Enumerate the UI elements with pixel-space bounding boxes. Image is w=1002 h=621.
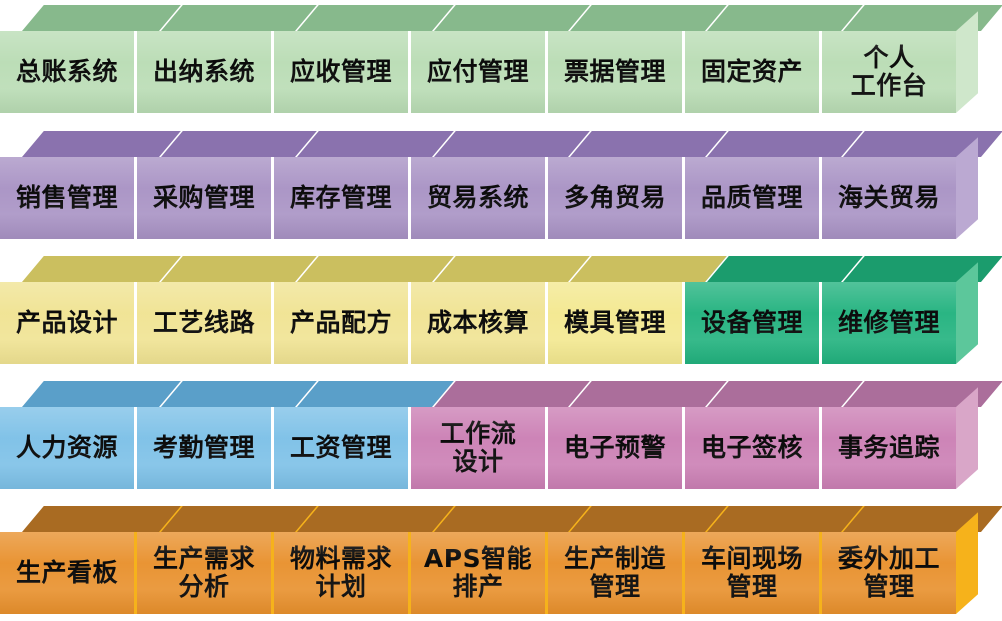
- module-row-hr-workflow: 人力资源考勤管理工资管理工作流 设计电子预警电子签核事务追踪: [0, 381, 1002, 489]
- cube-top-face: [22, 381, 181, 407]
- module-block[interactable]: 成本核算: [408, 282, 545, 364]
- module-block[interactable]: 库存管理: [271, 157, 408, 239]
- module-block[interactable]: 电子签核: [682, 407, 819, 489]
- module-label: APS智能 排产: [422, 545, 534, 601]
- module-block[interactable]: 固定资产: [682, 31, 819, 113]
- cube-top-face: [705, 5, 866, 31]
- module-block[interactable]: 产品设计: [0, 282, 134, 364]
- module-label: 工资管理: [288, 434, 394, 462]
- cube-top-face: [22, 131, 181, 157]
- row-front-face: 销售管理采购管理库存管理贸易系统多角贸易品质管理海关贸易: [0, 157, 956, 239]
- module-label: 设备管理: [699, 309, 805, 337]
- cube-top-face: [159, 381, 320, 407]
- module-block[interactable]: 票据管理: [545, 31, 682, 113]
- cube-top-face: [432, 506, 593, 532]
- module-block[interactable]: 生产制造 管理: [545, 532, 682, 614]
- module-block[interactable]: 模具管理: [545, 282, 682, 364]
- module-row-finance: 总账系统出纳系统应收管理应付管理票据管理固定资产个人 工作台: [0, 5, 1002, 113]
- cube-top-face: [22, 506, 181, 532]
- cube-top-face: [295, 131, 456, 157]
- module-block[interactable]: 贸易系统: [408, 157, 545, 239]
- module-block[interactable]: 物料需求 计划: [271, 532, 408, 614]
- row-top-face: [0, 5, 1002, 31]
- module-block[interactable]: 事务追踪: [819, 407, 956, 489]
- module-label: 贸易系统: [425, 184, 531, 212]
- row-front-face: 生产看板生产需求 分析物料需求 计划APS智能 排产生产制造 管理车间现场 管理…: [0, 532, 956, 614]
- cube-top-face: [705, 381, 866, 407]
- module-block[interactable]: 多角贸易: [545, 157, 682, 239]
- cube-top-face: [568, 381, 729, 407]
- module-label: 票据管理: [562, 58, 668, 86]
- row-top-face: [0, 131, 1002, 157]
- module-block[interactable]: 个人 工作台: [819, 31, 956, 113]
- cube-right-side-face: [956, 137, 978, 239]
- cube-top-face: [295, 5, 456, 31]
- module-label: 模具管理: [562, 309, 668, 337]
- cube-right-side-face: [956, 262, 978, 364]
- row-top-face: [0, 506, 1002, 532]
- cube-top-face: [568, 131, 729, 157]
- cube-top-face: [159, 506, 320, 532]
- row-front-face: 产品设计工艺线路产品配方成本核算模具管理设备管理维修管理: [0, 282, 956, 364]
- module-matrix-diagram: 总账系统出纳系统应收管理应付管理票据管理固定资产个人 工作台销售管理采购管理库存…: [0, 0, 1002, 621]
- module-block[interactable]: 采购管理: [134, 157, 271, 239]
- cube-top-face: [432, 131, 593, 157]
- row-front-face: 人力资源考勤管理工资管理工作流 设计电子预警电子签核事务追踪: [0, 407, 956, 489]
- module-label: 产品设计: [14, 309, 120, 337]
- cube-top-face: [432, 5, 593, 31]
- module-label: 车间现场 管理: [699, 545, 805, 601]
- cube-top-face: [22, 256, 181, 282]
- module-label: 生产看板: [14, 559, 120, 587]
- row-top-face: [0, 381, 1002, 407]
- module-block[interactable]: 委外加工 管理: [819, 532, 956, 614]
- module-label: 维修管理: [836, 309, 942, 337]
- module-label: 成本核算: [425, 309, 531, 337]
- module-block[interactable]: 工作流 设计: [408, 407, 545, 489]
- module-label: 电子预警: [562, 434, 668, 462]
- module-block[interactable]: 海关贸易: [819, 157, 956, 239]
- module-block[interactable]: 应收管理: [271, 31, 408, 113]
- cube-right-side-face: [956, 387, 978, 489]
- module-label: 多角贸易: [562, 184, 668, 212]
- module-label: 个人 工作台: [849, 44, 930, 100]
- cube-top-face: [22, 5, 181, 31]
- cube-top-face: [705, 131, 866, 157]
- module-label: 固定资产: [699, 58, 805, 86]
- cube-top-face: [159, 256, 320, 282]
- cube-top-face: [295, 506, 456, 532]
- module-label: 生产需求 分析: [151, 545, 257, 601]
- module-block[interactable]: 出纳系统: [134, 31, 271, 113]
- cube-top-face: [295, 256, 456, 282]
- cube-top-face: [295, 381, 456, 407]
- module-block[interactable]: 应付管理: [408, 31, 545, 113]
- module-block[interactable]: 电子预警: [545, 407, 682, 489]
- module-row-manufacturing: 生产看板生产需求 分析物料需求 计划APS智能 排产生产制造 管理车间现场 管理…: [0, 506, 1002, 614]
- module-label: 产品配方: [288, 309, 394, 337]
- module-label: 品质管理: [699, 184, 805, 212]
- module-label: 考勤管理: [151, 434, 257, 462]
- cube-top-face: [568, 256, 729, 282]
- module-label: 工艺线路: [151, 309, 257, 337]
- module-label: 总账系统: [14, 58, 120, 86]
- module-label: 电子签核: [699, 434, 805, 462]
- module-block[interactable]: 维修管理: [819, 282, 956, 364]
- module-row-supply-chain: 销售管理采购管理库存管理贸易系统多角贸易品质管理海关贸易: [0, 131, 1002, 239]
- module-label: 生产制造 管理: [562, 545, 668, 601]
- module-block[interactable]: 车间现场 管理: [682, 532, 819, 614]
- module-label: 采购管理: [151, 184, 257, 212]
- cube-top-face: [159, 131, 320, 157]
- cube-top-face: [432, 381, 593, 407]
- module-label: 海关贸易: [836, 184, 942, 212]
- cube-top-face: [159, 5, 320, 31]
- module-block[interactable]: 生产看板: [0, 532, 134, 614]
- cube-top-face: [568, 506, 729, 532]
- module-label: 人力资源: [14, 434, 120, 462]
- module-row-engineering-equipment: 产品设计工艺线路产品配方成本核算模具管理设备管理维修管理: [0, 256, 1002, 364]
- module-block[interactable]: APS智能 排产: [408, 532, 545, 614]
- module-label: 事务追踪: [836, 434, 942, 462]
- module-label: 销售管理: [14, 184, 120, 212]
- module-label: 库存管理: [288, 184, 394, 212]
- cube-top-face: [432, 256, 593, 282]
- cube-right-side-face: [956, 512, 978, 614]
- module-block[interactable]: 考勤管理: [134, 407, 271, 489]
- cube-right-side-face: [956, 11, 978, 113]
- module-block[interactable]: 产品配方: [271, 282, 408, 364]
- module-block[interactable]: 品质管理: [682, 157, 819, 239]
- cube-top-face: [705, 256, 866, 282]
- module-label: 物料需求 计划: [288, 545, 394, 601]
- row-top-face: [0, 256, 1002, 282]
- module-label: 应收管理: [288, 58, 394, 86]
- module-label: 委外加工 管理: [836, 545, 942, 601]
- module-label: 应付管理: [425, 58, 531, 86]
- module-block[interactable]: 总账系统: [0, 31, 134, 113]
- module-block[interactable]: 人力资源: [0, 407, 134, 489]
- module-label: 工作流 设计: [438, 420, 519, 476]
- module-block[interactable]: 生产需求 分析: [134, 532, 271, 614]
- module-block[interactable]: 工资管理: [271, 407, 408, 489]
- row-front-face: 总账系统出纳系统应收管理应付管理票据管理固定资产个人 工作台: [0, 31, 956, 113]
- module-label: 出纳系统: [151, 58, 257, 86]
- module-block[interactable]: 销售管理: [0, 157, 134, 239]
- cube-top-face: [705, 506, 866, 532]
- cube-top-face: [568, 5, 729, 31]
- module-block[interactable]: 设备管理: [682, 282, 819, 364]
- module-block[interactable]: 工艺线路: [134, 282, 271, 364]
